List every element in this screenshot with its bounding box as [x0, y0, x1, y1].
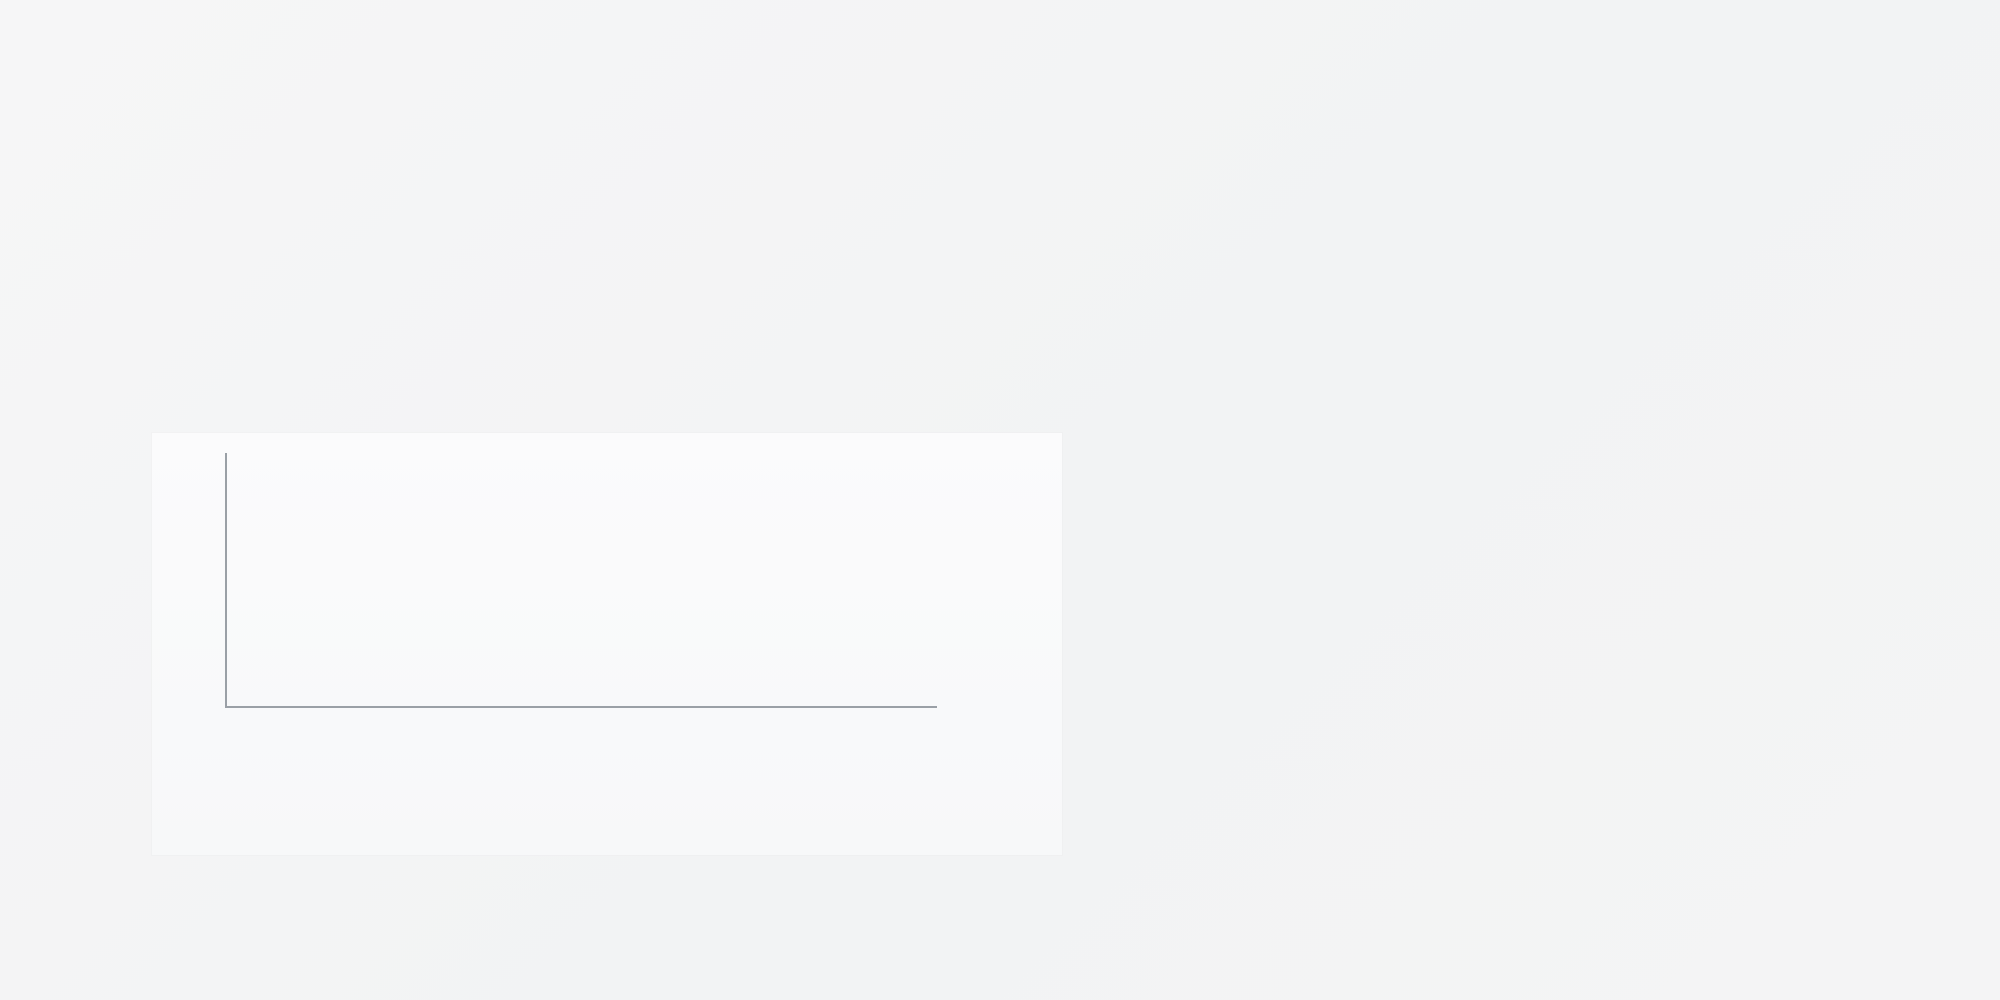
x-axis-line — [225, 706, 937, 708]
pie-chart — [1120, 440, 1980, 880]
pie-chart-area — [1120, 440, 1980, 880]
y-axis-line — [225, 453, 227, 707]
bar-chart-card — [152, 433, 1062, 855]
y-axis-labels — [154, 433, 216, 855]
bar-chart — [152, 433, 1062, 855]
chart-page — [0, 0, 2000, 1000]
bar-plot-area — [226, 455, 936, 705]
